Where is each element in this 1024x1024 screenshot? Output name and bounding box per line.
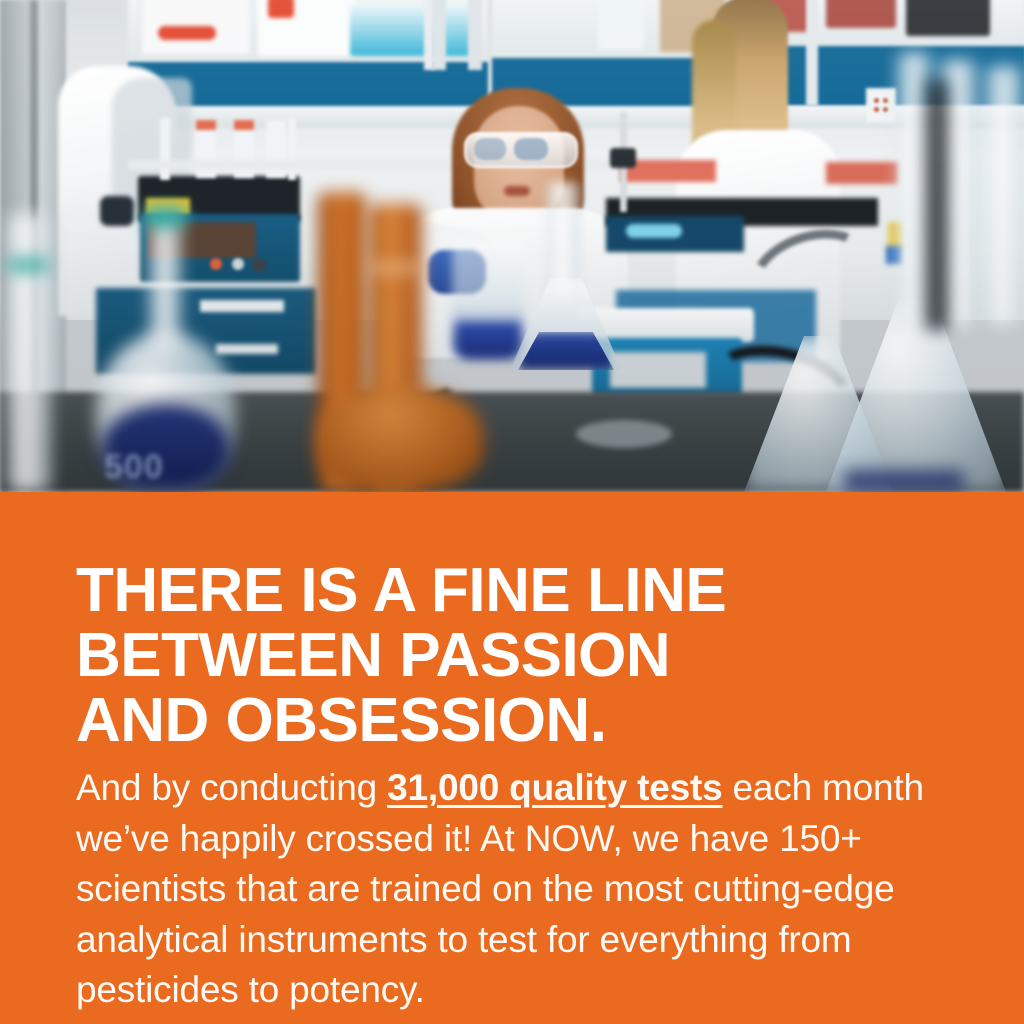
instrument-knob-2 bbox=[232, 258, 244, 270]
shelf-bin-dark bbox=[906, 0, 990, 36]
cabinet-mullion-right bbox=[806, 0, 818, 106]
floor-dish bbox=[576, 420, 672, 448]
backbench-stand-clamp bbox=[610, 148, 636, 168]
promotional-poster: 500 THERE IS A FINE LINE BETWEEN PASSION… bbox=[0, 0, 1024, 1024]
shelf-bottle-clear-1 bbox=[598, 0, 644, 50]
lower-cabinet-handle-2 bbox=[216, 344, 278, 354]
bench-edge-strip bbox=[128, 160, 688, 170]
scientist-center-lens-left bbox=[474, 138, 506, 160]
foreground-flask-right-liquid bbox=[844, 470, 964, 492]
vial-2-cap bbox=[196, 120, 216, 130]
laboratory-photo: 500 bbox=[0, 0, 1024, 492]
flask-volume-marking-500: 500 bbox=[104, 448, 190, 484]
foreground-amber-flask-bulb bbox=[316, 386, 484, 492]
vial-3-cap bbox=[234, 120, 254, 130]
instrument-knob-3 bbox=[252, 258, 266, 272]
foreground-cylinder-left-teal-band bbox=[8, 258, 48, 272]
foreground-flask-left-neck bbox=[148, 212, 182, 352]
shelf-bottle-cyan bbox=[350, 4, 472, 56]
orange-text-panel: THERE IS A FINE LINE BETWEEN PASSION AND… bbox=[0, 492, 1024, 1024]
shelf-label-red-2 bbox=[268, 0, 294, 18]
body-copy: And by conducting 31,000 quality tests e… bbox=[76, 763, 952, 1016]
lower-cabinet-handle-1 bbox=[200, 300, 284, 312]
balance-front-panel bbox=[610, 352, 706, 388]
backbench-instrument-logo bbox=[626, 224, 682, 238]
cabinet-mullion-a bbox=[432, 0, 446, 70]
vial-5 bbox=[288, 118, 296, 180]
shelf-label-red-1 bbox=[158, 26, 216, 40]
highlight-quality-tests: 31,000 quality tests bbox=[387, 767, 722, 808]
shelf-bin-red-2 bbox=[826, 0, 896, 28]
foreground-beaker-center-liquid bbox=[456, 322, 520, 358]
foreground-cylinder-left bbox=[6, 214, 52, 492]
backbench-tray-red-2 bbox=[826, 162, 898, 184]
scientist-left-hand bbox=[100, 196, 134, 226]
instrument-knob-1 bbox=[210, 258, 222, 270]
foreground-dark-stand-right bbox=[926, 80, 948, 330]
headline: THERE IS A FINE LINE BETWEEN PASSION AND… bbox=[76, 558, 976, 753]
scientist-center-mouth bbox=[504, 186, 530, 196]
foreground-amber-ring bbox=[370, 262, 422, 274]
foreground-flask-left-cap bbox=[144, 206, 186, 228]
vial-1 bbox=[160, 118, 170, 180]
cabinet-mullion-b bbox=[468, 0, 482, 70]
scientist-center-lens-right bbox=[514, 138, 548, 160]
wall-outlet-dots bbox=[872, 96, 890, 114]
body-text-before: And by conducting bbox=[76, 767, 387, 808]
foreground-neck-right-3 bbox=[984, 66, 1024, 324]
